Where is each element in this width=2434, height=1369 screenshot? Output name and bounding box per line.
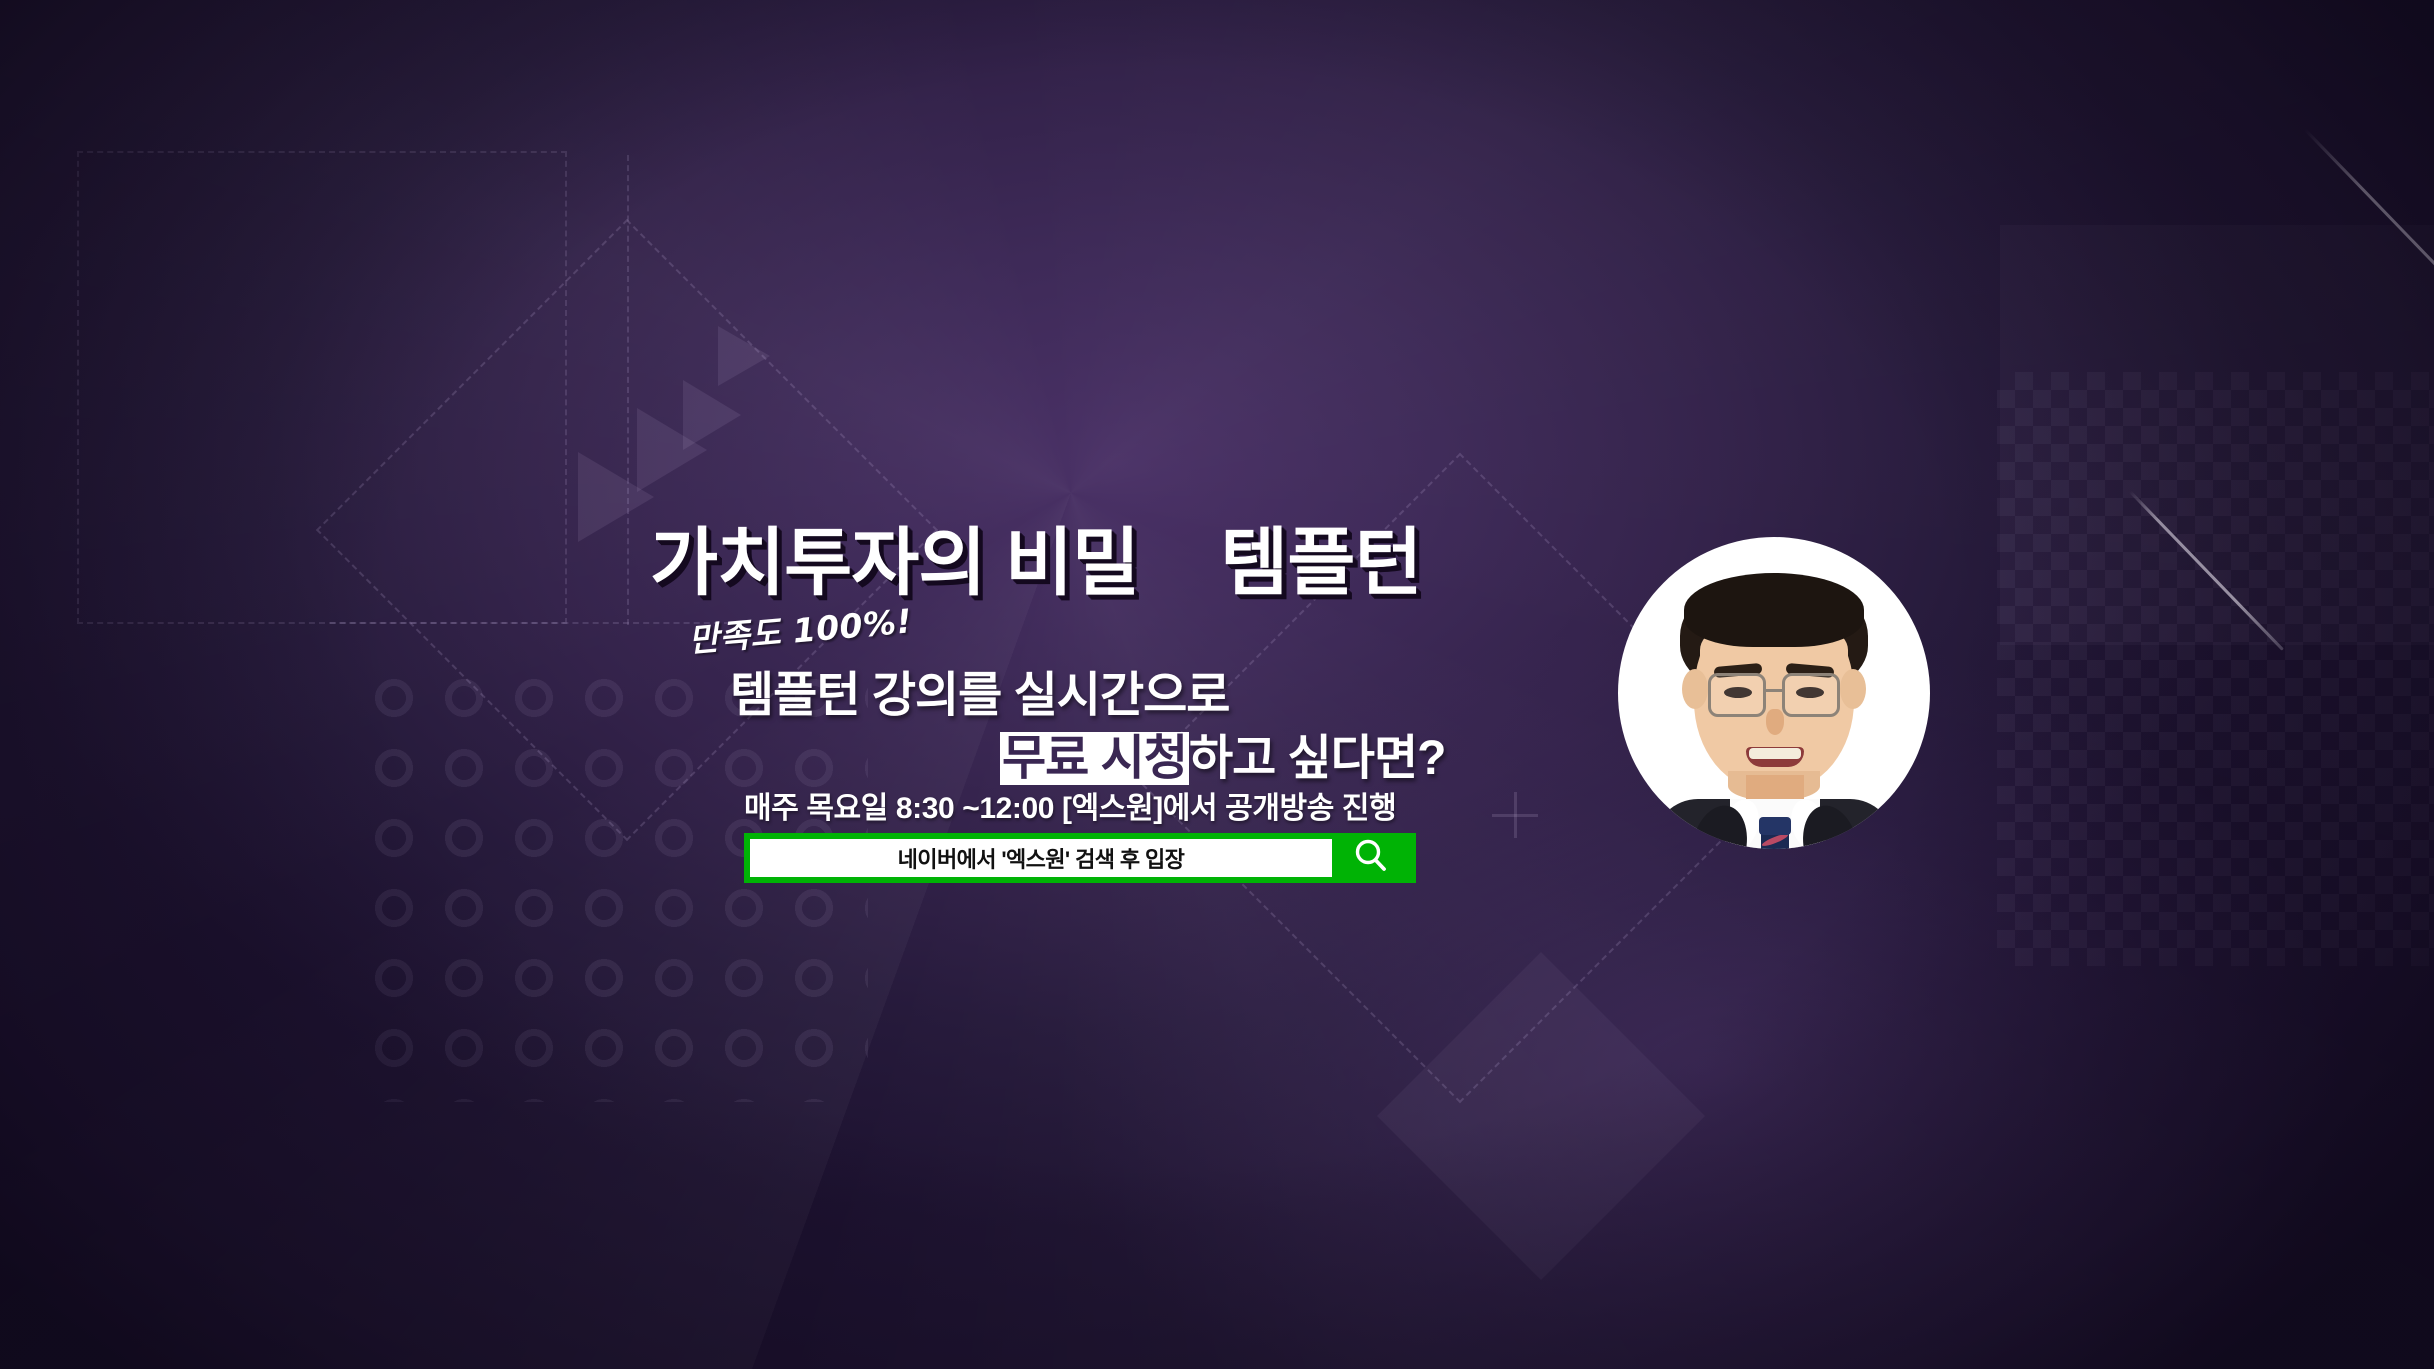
search-input-text: 네이버에서 '엑스원' 검색 후 입장 bbox=[898, 842, 1185, 874]
portrait-hair-top bbox=[1684, 573, 1864, 647]
subtitle-highlight: 무료 시청 bbox=[1000, 732, 1189, 785]
avatar bbox=[1618, 537, 1930, 849]
subtitle-line-1: 템플턴 강의를 실시간으로 bbox=[730, 655, 1229, 725]
portrait-ear-right bbox=[1840, 669, 1866, 709]
page-title: 가치투자의 비밀 템플턴 bbox=[650, 503, 1422, 610]
portrait-glasses-right bbox=[1782, 673, 1840, 717]
search-button[interactable] bbox=[1332, 839, 1410, 877]
search-icon bbox=[1352, 837, 1390, 880]
portrait-glasses-bridge bbox=[1766, 689, 1782, 692]
portrait-tie-knot bbox=[1759, 817, 1791, 835]
schedule-text: 매주 목요일 8:30 ~12:00 [엑스원]에서 공개방송 진행 bbox=[744, 783, 1396, 827]
search-input[interactable]: 네이버에서 '엑스원' 검색 후 입장 bbox=[750, 839, 1332, 877]
portrait-ear-left bbox=[1682, 669, 1708, 709]
promo-banner: 가치투자의 비밀 템플턴 만족도 100%! 템플턴 강의를 실시간으로 무료 … bbox=[0, 0, 2434, 1369]
search-bar[interactable]: 네이버에서 '엑스원' 검색 후 입장 bbox=[744, 833, 1416, 883]
portrait-glasses-left bbox=[1708, 673, 1766, 717]
subtitle-line-2: 무료 시청하고 싶다면? bbox=[1000, 718, 1445, 788]
subtitle-rest: 하고 싶다면? bbox=[1189, 732, 1445, 785]
portrait-nose bbox=[1766, 709, 1784, 735]
headline-part-1: 가치투자의 비밀 bbox=[650, 521, 1139, 604]
portrait-teeth bbox=[1749, 748, 1801, 759]
headline-part-2: 템플턴 bbox=[1220, 521, 1421, 604]
